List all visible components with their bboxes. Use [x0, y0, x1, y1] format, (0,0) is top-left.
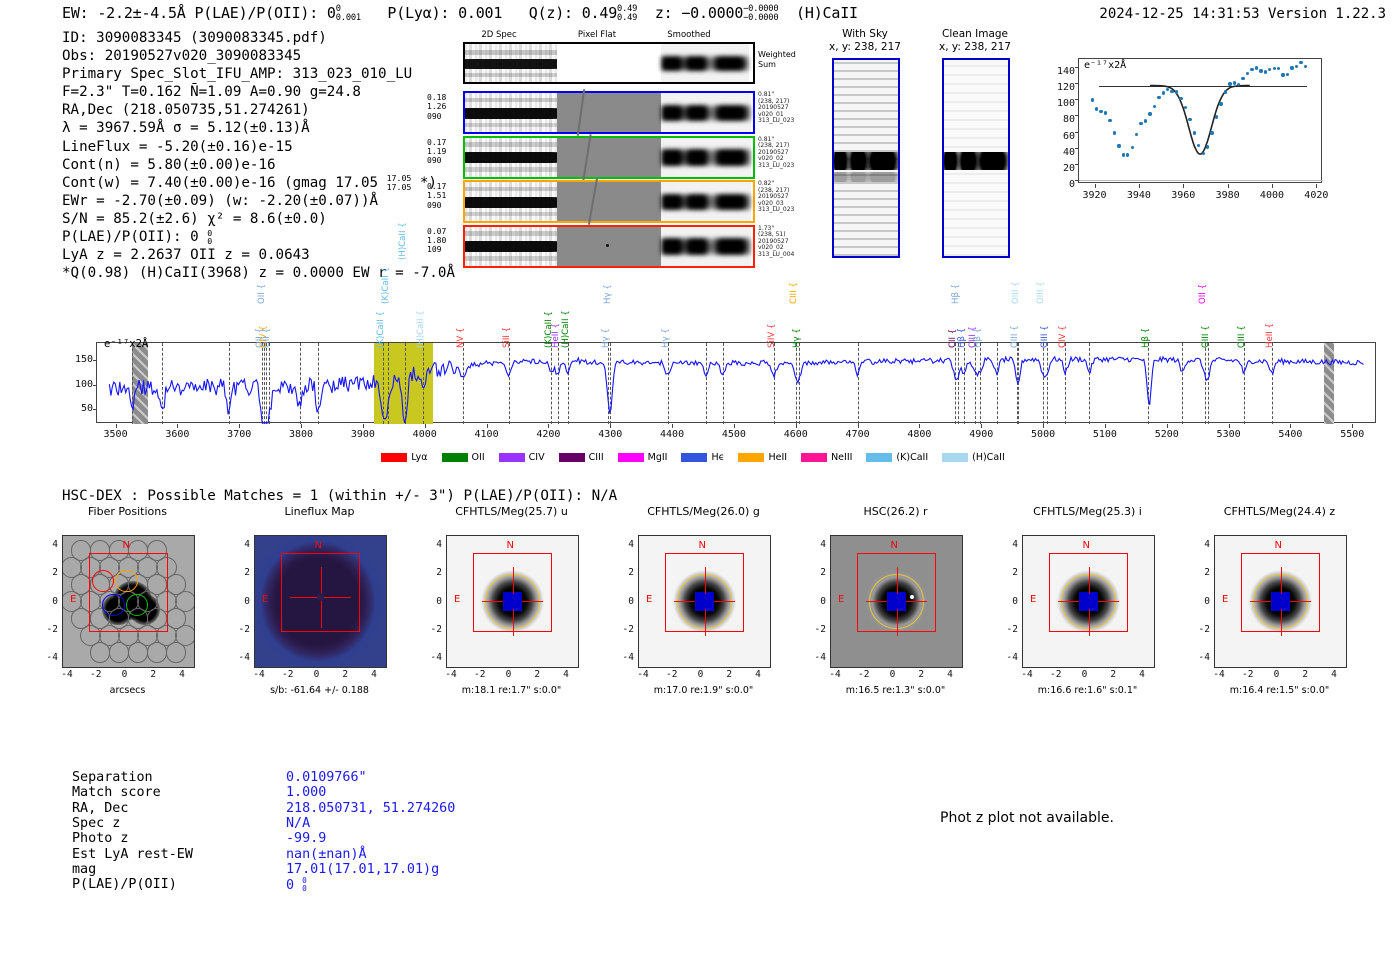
cutout-y-tick: 4	[36, 539, 58, 550]
cutout-y-tick: 0	[228, 596, 250, 607]
spec2d-col-title-smoothed: Smoothed	[651, 30, 727, 40]
crosshair-v-top	[897, 567, 898, 593]
crosshair-h-right	[1290, 601, 1311, 602]
spec2d-exposure-panel	[463, 225, 755, 268]
cutout-x-tick: 0	[1264, 669, 1290, 680]
emission-line-label: CIII {	[789, 282, 799, 304]
spec2d-flat-defect	[577, 89, 585, 136]
emission-line-label: HeII {	[1265, 323, 1275, 348]
north-label: N	[507, 540, 514, 551]
cutout-x-tick: 0	[496, 669, 522, 680]
legend-label: MgII	[648, 452, 668, 463]
spec2d-pixelflat-pane	[557, 182, 661, 221]
x-tick-mark	[981, 424, 982, 428]
cutout-y-tick: -4	[36, 652, 58, 663]
data-point	[1099, 110, 1102, 113]
data-point	[1113, 131, 1116, 134]
crosshair-v-top	[705, 567, 706, 593]
spec2d-2dspec-pane	[465, 93, 557, 132]
crosshair-h-left	[482, 601, 503, 602]
cutout-x-tick: 4	[937, 669, 963, 680]
cutout-y-tick: 4	[228, 539, 250, 550]
emission-line-label: (H)CaII {	[398, 222, 408, 260]
x-tick-label: 4200	[524, 429, 572, 440]
cutout-footer: m:16.6 re:1.6" s:0.1"	[992, 685, 1183, 696]
crosshair-h-left	[1058, 601, 1079, 602]
cutout-y-tick: 4	[612, 539, 634, 550]
y-tick-label: 140	[1043, 66, 1075, 77]
x-tick-label: 4500	[710, 429, 758, 440]
north-label: N	[1275, 540, 1282, 551]
x-tick-mark	[363, 424, 364, 428]
x-tick-mark	[610, 424, 611, 428]
cutout-title: Lineflux Map	[228, 505, 411, 518]
spec2d-smoothed-pane	[661, 138, 751, 177]
spec2d-trace-faint	[465, 256, 557, 261]
legend-item: OII	[442, 452, 485, 463]
line-zoom-flux-annotation: e⁻¹⁷x2Å	[1084, 60, 1126, 71]
cutout-image	[446, 535, 579, 668]
y-tick-label: 100	[1043, 98, 1075, 109]
sky-panel-image	[942, 58, 1010, 258]
cutout-x-tick: 0	[880, 669, 906, 680]
spec2d-row-left-label: 0.17 1.19 090	[427, 138, 459, 166]
emission-line-label: OIII {	[1201, 325, 1211, 348]
emission-line-label: Hγ {	[792, 328, 802, 348]
cutout-x-tick: 2	[716, 669, 742, 680]
x-tick-mark	[1352, 424, 1353, 428]
spec2d-smoothed-pane	[661, 182, 751, 221]
data-point	[1122, 153, 1125, 156]
crosshair-h-left	[866, 601, 887, 602]
emission-line-label: OIII {	[1040, 325, 1050, 348]
plae-sub: 0.001	[336, 13, 361, 23]
table-value: N/A	[286, 816, 310, 831]
y-tick-label: 50	[63, 403, 93, 414]
cutout-y-tick: -4	[804, 652, 826, 663]
data-point	[1206, 145, 1209, 148]
legend-label: Lyα	[411, 452, 427, 463]
cutout-x-tick: -2	[1043, 669, 1069, 680]
emission-line-label: (H)CaII {	[416, 310, 426, 348]
data-point	[1228, 82, 1231, 85]
full-spectrum-plot: 5010015035003600370038003900400041004200…	[60, 270, 1380, 445]
crosshair-v-bot	[513, 609, 514, 635]
emission-line-label: NV {	[456, 327, 466, 348]
y-tick-label: 20	[1043, 163, 1075, 174]
spec2d-smoothed-blob	[661, 149, 751, 165]
legend-item: MgII	[618, 452, 668, 463]
secondary-marker	[910, 595, 914, 599]
legend-label: CIII	[589, 452, 604, 463]
y-tick-label: 100	[63, 379, 93, 390]
legend-item: NeIII	[801, 452, 852, 463]
x-tick-mark	[734, 424, 735, 428]
sky-panel-image	[832, 58, 900, 258]
east-label: E	[646, 594, 652, 605]
spec2d-trace	[465, 108, 557, 119]
table-value: 0 00	[286, 877, 307, 893]
data-point	[1139, 122, 1142, 125]
x-tick-label: 4020	[1294, 190, 1338, 201]
north-label: N	[699, 540, 706, 551]
x-tick-mark	[548, 424, 549, 428]
emission-line-label: Hβ {	[1141, 328, 1151, 348]
table-key: Photo z	[72, 831, 128, 846]
spec2d-pixelflat-pane	[557, 227, 661, 266]
sky-panel-fill	[944, 60, 1008, 256]
cutout-y-tick: 4	[804, 539, 826, 550]
crosshair-v-top	[1281, 567, 1282, 593]
info-line-9: EWr = -2.70(±0.09) (w: -2.20(±0.07))Å	[62, 192, 455, 210]
table-key: Spec z	[72, 816, 120, 831]
legend-item: Lyα	[381, 452, 427, 463]
data-point	[1264, 70, 1267, 73]
table-key: P(LAE)/P(OII)	[72, 877, 177, 892]
cutout-x-tick: -2	[851, 669, 877, 680]
x-tick-label: 5200	[1143, 429, 1191, 440]
fiber-circle	[166, 642, 187, 663]
cutout-x-tick: 2	[1100, 669, 1126, 680]
legend-swatch	[499, 453, 525, 462]
full-spectrum-axes: 5010015035003600370038003900400041004200…	[96, 342, 1376, 423]
x-tick-label: 3600	[153, 429, 201, 440]
x-tick-label: 5000	[1019, 429, 1067, 440]
x-tick-label: 4400	[648, 429, 696, 440]
x-tick-label: 4000	[1250, 190, 1294, 201]
table-key: RA, Dec	[72, 801, 128, 816]
east-label: E	[1222, 594, 1228, 605]
x-tick-label: 4900	[957, 429, 1005, 440]
cutout-title: Fiber Positions	[36, 505, 219, 518]
cutout-x-tick: -4	[1206, 669, 1232, 680]
emission-line-label: HeII {	[551, 323, 561, 348]
cutout-y-tick: 0	[612, 596, 634, 607]
spec2d-trace-faint	[465, 187, 557, 192]
legend-label: NeIII	[831, 452, 852, 463]
info-line-10: S/N = 85.2(±2.6) χ² = 8.6(±0.0)	[62, 210, 455, 228]
emission-line-label: OIII {	[1036, 281, 1046, 304]
cutout-x-tick: 2	[1292, 669, 1318, 680]
data-point	[1304, 65, 1307, 68]
cutout-x-tick: -4	[438, 669, 464, 680]
spec2d-row-right-label: 0.81" (238, 217) 20190527 v020_02 313_LU…	[758, 137, 804, 170]
crosshair-h-right	[522, 601, 543, 602]
info-line-12: LyA z = 2.2637 OII z = 0.0643	[62, 246, 455, 264]
spec2d-weighted-sum-label: Weighted Sum	[758, 50, 796, 69]
cutout-y-tick: 2	[36, 567, 58, 578]
table-value: -99.9	[286, 831, 326, 846]
x-tick-label: 3800	[277, 429, 325, 440]
spec2d-trace	[465, 241, 557, 252]
spec2d-smoothed-blob	[661, 194, 751, 210]
cutout-y-tick: 4	[1188, 539, 1210, 550]
emission-line-label: OIII {	[1237, 325, 1247, 348]
x-tick-mark	[1095, 184, 1096, 188]
table-value: 218.050731, 51.274260	[286, 801, 455, 816]
emission-line-label: (K)CaII {	[376, 311, 386, 348]
cutout-x-tick: 0	[304, 669, 330, 680]
north-label: N	[315, 540, 322, 551]
z-sub: −0.0000	[743, 13, 778, 23]
cutout-y-tick: 0	[420, 596, 442, 607]
cutout-image	[62, 535, 195, 668]
legend-swatch	[738, 453, 764, 462]
cutout-title: CFHTLS/Meg(26.0) g	[612, 505, 795, 518]
crosshair-v-top	[1089, 567, 1090, 593]
cutout-title: HSC(26.2) r	[804, 505, 987, 518]
cutout-y-tick: 0	[996, 596, 1018, 607]
data-point	[1144, 119, 1147, 122]
emission-line-label: Hβ {	[957, 328, 967, 348]
x-tick-label: 5100	[1081, 429, 1129, 440]
spec2d-col-title-2dspec: 2D Spec	[463, 30, 535, 40]
spec2d-trace-faint	[465, 231, 557, 236]
cutout-title: CFHTLS/Meg(25.3) i	[996, 505, 1179, 518]
table-value: 1.000	[286, 785, 326, 800]
sky-panel-group: With Skyx, y: 238, 217Clean Imagex, y: 2…	[820, 28, 1020, 263]
emission-line-label: OII {	[1198, 284, 1208, 304]
cutout-x-tick: 2	[524, 669, 550, 680]
source-info-block: ID: 3090083345 (3090083345.pdf)Obs: 2019…	[62, 29, 455, 282]
info-line-5: λ = 3967.59Å σ = 5.12(±0.13)Å	[62, 119, 455, 137]
legend-swatch	[801, 453, 827, 462]
cutout-x-tick: -4	[246, 669, 272, 680]
sky-source-band	[834, 152, 898, 170]
x-tick-mark	[796, 424, 797, 428]
sky-panel-title: Clean Image	[930, 28, 1020, 40]
data-point	[1210, 131, 1213, 134]
cutout-x-tick: 0	[112, 669, 138, 680]
cutout-footer: s/b: -61.64 +/- 0.188	[224, 685, 415, 696]
cutout-y-tick: -4	[1188, 652, 1210, 663]
x-tick-mark	[1316, 184, 1317, 188]
emission-line-label: SiIV {	[767, 324, 777, 348]
spec2d-flat-defect	[582, 134, 591, 180]
spec2d-flat-defect	[588, 178, 598, 224]
data-point	[1162, 91, 1165, 94]
sky-panel-title: With Sky	[820, 28, 910, 40]
cutout-x-tick: -2	[83, 669, 109, 680]
cutout-footer: m:17.0 re:1.9" s:0.0"	[608, 685, 799, 696]
info-line-1: Obs: 20190527v020_3090083345	[62, 47, 455, 65]
x-tick-mark	[672, 424, 673, 428]
zero-line	[1079, 180, 1323, 181]
data-point	[1104, 111, 1107, 114]
table-value: 17.01(17.01,17.01)g	[286, 862, 439, 877]
table-key: mag	[72, 862, 96, 877]
sky-panel-coords: x, y: 238, 217	[930, 41, 1020, 53]
legend-swatch	[559, 453, 585, 462]
match-detail-table: Separation0.0109766"Match score1.000RA, …	[72, 770, 692, 910]
y-tick-label: 60	[1043, 131, 1075, 142]
x-tick-mark	[239, 424, 240, 428]
cutout-title: CFHTLS/Meg(24.4) z	[1188, 505, 1371, 518]
spec2d-trace	[465, 152, 557, 163]
cutout-x-tick: -4	[630, 669, 656, 680]
data-point	[1233, 81, 1236, 84]
crosshair-h-left	[674, 601, 695, 602]
info-line-0: ID: 3090083345 (3090083345.pdf)	[62, 29, 455, 47]
crosshair-v-bot	[1089, 609, 1090, 635]
x-tick-label: 3980	[1206, 190, 1250, 201]
x-tick-label: 4300	[586, 429, 634, 440]
cutout-x-tick: -2	[1235, 669, 1261, 680]
spec2d-smoothed-blob	[661, 238, 751, 254]
x-tick-label: 3500	[92, 429, 140, 440]
data-point	[1188, 118, 1191, 121]
cutout-x-tick: -4	[822, 669, 848, 680]
cutout-footer: m:18.1 re:1.7" s:0.0"	[416, 685, 607, 696]
header-summary-line: EW: -2.2±-4.5Å P(LAE)/P(OII): 000.001 P(…	[62, 4, 858, 22]
legend-label: (H)CaII	[972, 452, 1005, 463]
east-label: E	[454, 594, 460, 605]
legend-item: HeII	[738, 452, 787, 463]
spec2d-trace-faint	[465, 98, 557, 103]
data-point	[1179, 97, 1182, 100]
spec2d-2dspec-pane	[465, 182, 557, 221]
fiber-circle	[128, 642, 149, 663]
legend-swatch	[381, 453, 407, 462]
matches-header: HSC-DEX : Possible Matches = 1 (within +…	[62, 488, 617, 504]
x-tick-label: 3940	[1117, 190, 1161, 201]
legend-label: OII	[472, 452, 485, 463]
line-zoom-axes: 0204060801001201403920394039603980400040…	[1078, 58, 1322, 183]
legend-item: (H)CaII	[942, 452, 1005, 463]
data-point	[1215, 115, 1218, 118]
cutout-image	[1214, 535, 1347, 668]
x-tick-mark	[919, 424, 920, 428]
emission-line-label: Hγ {	[603, 284, 613, 304]
data-point	[1224, 90, 1227, 93]
spectrum-trace	[97, 343, 1377, 424]
data-point	[1108, 119, 1111, 122]
table-key: Match score	[72, 785, 161, 800]
data-point	[1290, 66, 1293, 69]
qz-sub: 0.49	[617, 13, 637, 23]
x-tick-label: 3960	[1161, 190, 1205, 201]
spec2d-2dspec-pane	[465, 138, 557, 177]
emission-line-label: Hβ {	[951, 284, 961, 304]
info-line-2: Primary Spec_Slot_IFU_AMP: 313_023_010_L…	[62, 65, 455, 83]
legend-swatch	[942, 453, 968, 462]
spec2d-col-title-pixelflat: Pixel Flat	[559, 30, 635, 40]
cutout-y-tick: 2	[804, 567, 826, 578]
y-tick-label: 40	[1043, 147, 1075, 158]
info-line-6: LineFlux = -5.20(±0.16)e-15	[62, 138, 455, 156]
cutout-y-tick: -4	[612, 652, 634, 663]
crosshair-h-right	[1098, 601, 1119, 602]
data-point	[1255, 66, 1258, 69]
x-tick-label: 4100	[463, 429, 511, 440]
x-tick-label: 4700	[834, 429, 882, 440]
cutout-x-tick: 2	[140, 669, 166, 680]
data-point	[1281, 73, 1284, 76]
y-tick-label: 0	[1043, 179, 1075, 190]
cutout-y-tick: -4	[996, 652, 1018, 663]
x-tick-mark	[1139, 184, 1140, 188]
full-spectrum-legend: LyαOIICIVCIIIMgIIHϵHeIINeIII(K)CaII(H)Ca…	[0, 452, 1400, 463]
x-tick-mark	[1290, 424, 1291, 428]
cutout-x-tick: 4	[553, 669, 579, 680]
spec2d-row-left-label: 0.07 1.80 109	[427, 227, 459, 255]
cutout-y-tick: -4	[228, 652, 250, 663]
cutout-footer: arcsecs	[32, 685, 223, 696]
cutout-x-tick: -4	[54, 669, 80, 680]
emission-line-label: (H)CaII {	[561, 310, 571, 348]
north-label: N	[123, 540, 130, 551]
x-tick-mark	[1229, 424, 1230, 428]
legend-swatch	[866, 453, 892, 462]
y-tick-label: 150	[63, 354, 93, 365]
x-tick-label: 3920	[1073, 190, 1117, 201]
legend-swatch	[442, 453, 468, 462]
crosshair-v-bot	[897, 609, 898, 635]
x-tick-label: 4800	[895, 429, 943, 440]
data-point	[1202, 152, 1205, 155]
cutout-x-tick: 0	[688, 669, 714, 680]
x-tick-mark	[177, 424, 178, 428]
x-tick-mark	[1105, 424, 1106, 428]
x-tick-mark	[1183, 184, 1184, 188]
cutout-y-tick: 2	[996, 567, 1018, 578]
info-line-3: F=2.3" T=0.162 N̄=1.09 A=0.90 g=24.8	[62, 83, 455, 101]
cutout-x-tick: -2	[659, 669, 685, 680]
cutout-y-tick: 0	[1188, 596, 1210, 607]
data-point	[1219, 102, 1222, 105]
cutout-y-tick: 0	[36, 596, 58, 607]
fiber-circle	[147, 642, 168, 663]
spec2d-smoothed-blob	[661, 105, 751, 121]
x-tick-mark	[858, 424, 859, 428]
timestamp-version: 2024-12-25 14:31:53 Version 1.22.3	[1099, 6, 1386, 22]
legend-label: HeII	[768, 452, 787, 463]
qz-fraction: 0.490.49	[617, 5, 637, 23]
east-label: E	[262, 594, 268, 605]
data-point	[1091, 98, 1094, 101]
x-tick-mark	[1272, 184, 1273, 188]
cutout-y-tick: -2	[420, 624, 442, 635]
east-label: E	[1030, 594, 1036, 605]
spec2d-row-left-label: 0.17 1.51 090	[427, 182, 459, 210]
data-point	[1175, 90, 1178, 93]
cutout-x-tick: -4	[1014, 669, 1040, 680]
cutout-footer: m:16.4 re:1.5" s:0.0"	[1184, 685, 1375, 696]
legend-item: (K)CaII	[866, 452, 928, 463]
cutout-y-tick: -2	[612, 624, 634, 635]
info-line-4: RA,Dec (218.050735,51.274261)	[62, 101, 455, 119]
data-point	[1157, 96, 1160, 99]
spec2d-row-right-label: 1.73" (238, 51) 20190527 v020_02 313_LU_…	[758, 226, 804, 259]
cutout-y-tick: 0	[804, 596, 826, 607]
spec2d-flat-dot	[606, 244, 609, 247]
spec2d-exposure-panel	[463, 180, 755, 223]
cutout-y-tick: -4	[420, 652, 442, 663]
spec2d-exposure-panel	[463, 136, 755, 179]
legend-item: Hϵ	[681, 452, 724, 463]
data-point	[1148, 112, 1151, 115]
spec2d-weighted-sum-panel	[463, 42, 755, 84]
crosshair-v-bot	[705, 609, 706, 635]
data-point	[1170, 90, 1173, 93]
data-point	[1193, 131, 1196, 134]
cutout-y-tick: -2	[804, 624, 826, 635]
east-label: E	[838, 594, 844, 605]
spec2d-pixelflat-pane	[557, 93, 661, 132]
north-label: N	[1083, 540, 1090, 551]
emission-line-label: OII {	[257, 284, 267, 304]
cutout-y-tick: 2	[420, 567, 442, 578]
